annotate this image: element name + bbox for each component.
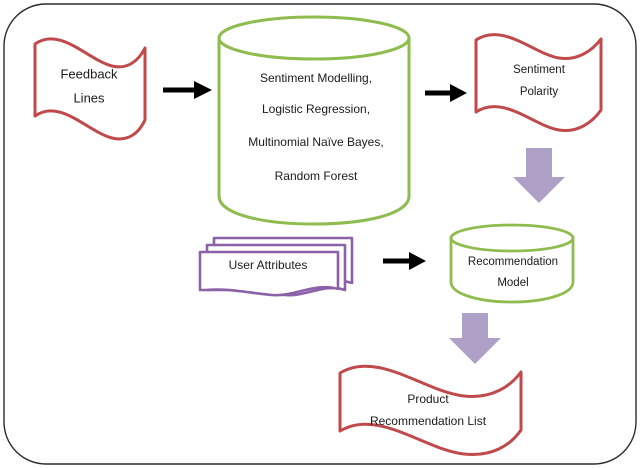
sentiment-polarity-label-line1: Sentiment bbox=[513, 64, 566, 76]
product-recommendation-list-label-line2: Recommendation List bbox=[370, 414, 487, 428]
sentiment-models-label-line3: Multinomial Naïve Bayes, bbox=[248, 135, 383, 149]
pipeline-diagram: Feedback Lines Sentiment Modelling, Logi… bbox=[0, 0, 640, 468]
diagram-canvas: Feedback Lines Sentiment Modelling, Logi… bbox=[0, 0, 640, 468]
node-sentiment-models[interactable]: Sentiment Modelling, Logistic Regression… bbox=[219, 17, 409, 224]
sentiment-models-label-line2: Logistic Regression, bbox=[262, 102, 370, 116]
cylinder-body bbox=[219, 38, 409, 224]
sentiment-models-label-line1: Sentiment Modelling, bbox=[260, 71, 372, 85]
node-recommendation-model[interactable]: Recommendation Model bbox=[451, 225, 573, 302]
recommendation-model-label-line1: Recommendation bbox=[468, 256, 558, 268]
feedback-lines-label-line1: Feedback bbox=[60, 66, 118, 81]
recommendation-model-label-line2: Model bbox=[497, 277, 528, 289]
cylinder-top-ellipse bbox=[451, 225, 573, 251]
user-attributes-label: User Attributes bbox=[229, 258, 308, 272]
sentiment-models-label-line4: Random Forest bbox=[275, 169, 358, 183]
feedback-lines-label-line2: Lines bbox=[73, 90, 105, 105]
product-recommendation-list-label-line1: Product bbox=[407, 392, 449, 406]
sentiment-polarity-label-line2: Polarity bbox=[520, 86, 559, 98]
node-user-attributes[interactable]: User Attributes bbox=[200, 238, 352, 295]
cylinder-top-ellipse bbox=[219, 17, 409, 59]
